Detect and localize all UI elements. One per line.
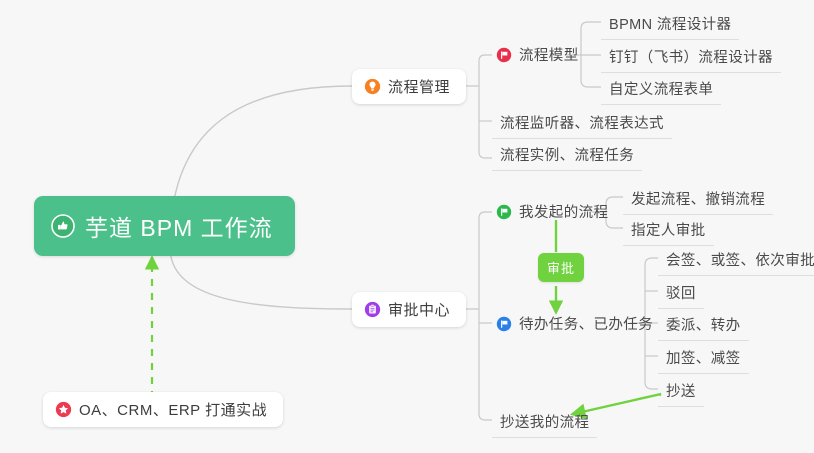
leaf-label: 流程监听器、流程表达式	[500, 112, 664, 133]
flag-green-icon	[496, 204, 512, 220]
leaf-label: 抄送我的流程	[500, 411, 589, 432]
leaf-label: 流程实例、流程任务	[500, 144, 634, 165]
star-icon	[55, 401, 72, 418]
leaf-bpmn-designer[interactable]: BPMN 流程设计器	[601, 10, 739, 40]
leaf-custom-form[interactable]: 自定义流程表单	[601, 75, 721, 105]
leaf-label: 发起流程、撤销流程	[631, 188, 765, 209]
leaf-start-cancel-process[interactable]: 发起流程、撤销流程	[623, 185, 773, 215]
leaf-cc-to-me[interactable]: 抄送我的流程	[492, 408, 597, 438]
thumbs-up-icon	[51, 214, 75, 238]
node-process-model[interactable]: 流程模型	[492, 41, 587, 70]
bottom-callout-card[interactable]: OA、CRM、ERP 打通实战	[43, 392, 283, 427]
leaf-label: 会签、或签、依次审批	[666, 249, 814, 270]
approval-tag: 审批	[538, 253, 584, 282]
leaf-label: 钉钉（飞书）流程设计器	[609, 46, 773, 67]
leaf-instance-task[interactable]: 流程实例、流程任务	[492, 141, 642, 171]
leaf-dingtalk-feishu-designer[interactable]: 钉钉（飞书）流程设计器	[601, 43, 781, 73]
root-node[interactable]: 芋道 BPM 工作流	[34, 196, 295, 256]
leaf-label: 驳回	[666, 282, 696, 303]
leaf-listener-expression[interactable]: 流程监听器、流程表达式	[492, 109, 672, 139]
leaf-label: 加签、减签	[666, 347, 741, 368]
leaf-label: BPMN 流程设计器	[609, 13, 731, 34]
lightbulb-icon	[364, 78, 381, 95]
mindmap-canvas: 芋道 BPM 工作流 流程管理 流程模型 BPMN 流程设计器 钉钉（飞书	[0, 0, 814, 453]
leaf-label: 指定人审批	[631, 219, 706, 240]
leaf-assignee-approval[interactable]: 指定人审批	[623, 216, 714, 246]
leaf-cc[interactable]: 抄送	[658, 377, 704, 407]
flag-blue-icon	[496, 316, 512, 332]
flag-red-icon	[496, 47, 512, 63]
leaf-countersign[interactable]: 会签、或签、依次审批	[658, 246, 814, 276]
branch-process-management[interactable]: 流程管理	[352, 69, 466, 104]
leaf-reject[interactable]: 驳回	[658, 279, 704, 309]
node-my-initiated[interactable]: 我发起的流程	[492, 198, 616, 227]
node-label: 我发起的流程	[519, 201, 608, 222]
leaf-label: 委派、转办	[666, 314, 741, 335]
leaf-label: 抄送	[666, 380, 696, 401]
branch-approval-center[interactable]: 审批中心	[352, 292, 466, 327]
branch-label: 审批中心	[388, 299, 450, 320]
bottom-callout-label: OA、CRM、ERP 打通实战	[79, 399, 267, 420]
leaf-add-remove-sign[interactable]: 加签、减签	[658, 344, 749, 374]
node-label: 流程模型	[519, 44, 579, 65]
node-label: 待办任务、已办任务	[519, 313, 653, 334]
branch-label: 流程管理	[388, 76, 450, 97]
clipboard-icon	[364, 301, 381, 318]
leaf-delegate-transfer[interactable]: 委派、转办	[658, 311, 749, 341]
root-label: 芋道 BPM 工作流	[85, 209, 273, 243]
node-todo-done-tasks[interactable]: 待办任务、已办任务	[492, 310, 661, 339]
leaf-label: 自定义流程表单	[609, 78, 713, 99]
